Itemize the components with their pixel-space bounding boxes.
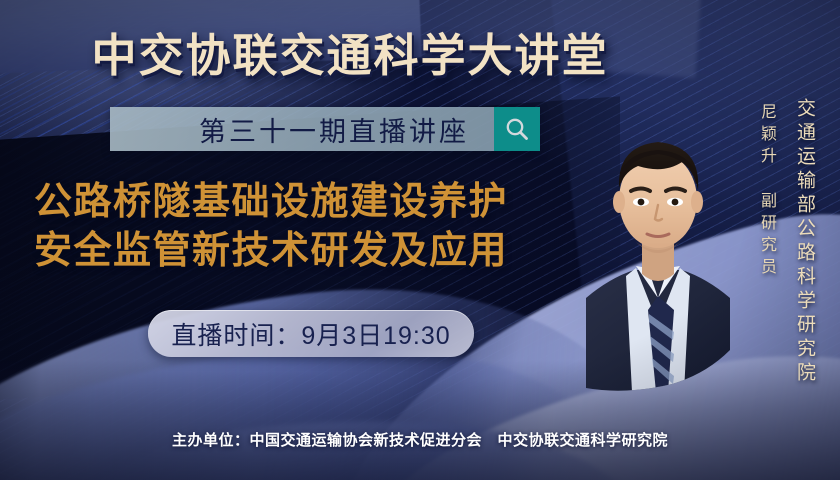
lecture-topic-line-1: 公路桥隧基础设施建设养护 <box>34 178 574 227</box>
organizers-footer: 主办单位：中国交通运输协会新技术促进分会 中交协联交通科学研究院 <box>0 429 840 450</box>
live-lecture-poster: 中交协联交通科学大讲堂 第三十一期直播讲座 公路桥隧基础设施建设养护 安全监管新… <box>0 0 840 480</box>
series-label: 第三十一期直播讲座 <box>110 107 494 151</box>
speaker-organization: 交通运输部公路科学研究院 <box>791 98 818 386</box>
search-icon[interactable] <box>494 107 540 151</box>
lecture-topic-line-2: 安全监管新技术研发及应用 <box>34 227 574 276</box>
live-time-badge: 直播时间：9月3日19:30 <box>148 310 474 357</box>
speaker-name-title: 尼颖升 副研究员 <box>754 103 778 280</box>
lecture-topic: 公路桥隧基础设施建设养护 安全监管新技术研发及应用 <box>34 178 574 277</box>
page-title: 中交协联交通科学大讲堂 <box>0 19 700 84</box>
series-banner: 第三十一期直播讲座 <box>110 107 540 151</box>
